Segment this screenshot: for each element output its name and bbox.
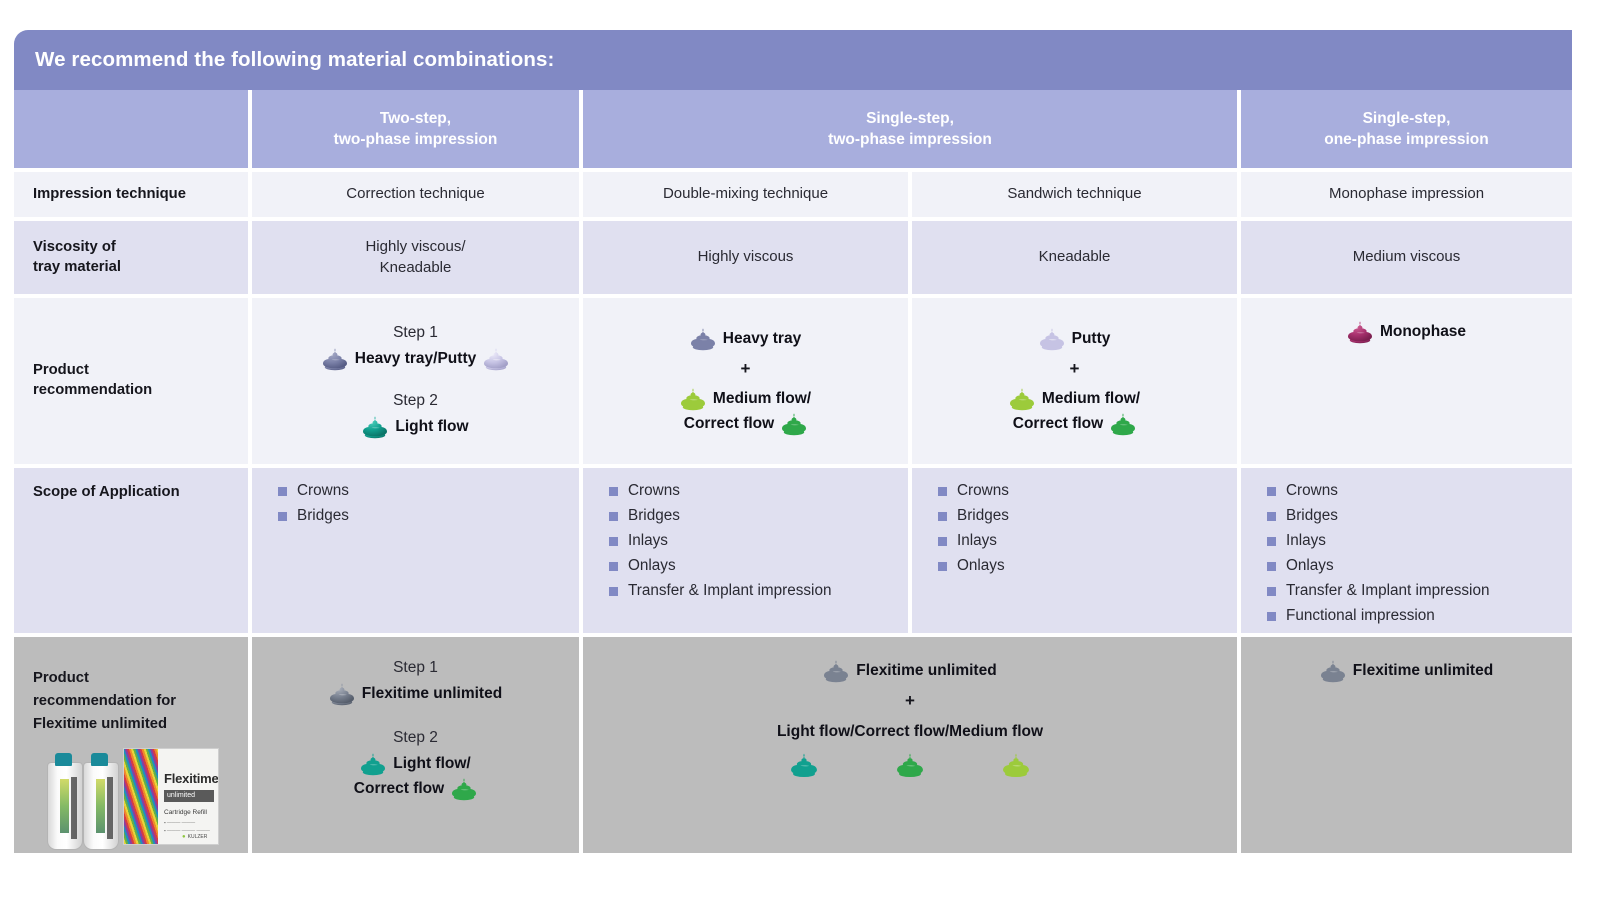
list-item: Onlays: [938, 554, 1009, 579]
step2-label: Step 2: [393, 392, 438, 410]
list-item: Crowns: [1267, 479, 1489, 504]
bullet-square-icon: [938, 562, 947, 571]
list-item-label: Onlays: [1286, 554, 1334, 579]
recommendation-table: We recommend the following material comb…: [14, 30, 1572, 858]
cartridge-label-strip: [60, 779, 69, 833]
blob-flexitime-unlimited-icon: [823, 659, 849, 683]
list-item: Crowns: [938, 479, 1009, 504]
cell-scope-4: Crowns Bridges Inlays Onlays Transfer & …: [1241, 468, 1572, 633]
blob-medium-flow-icon: [680, 387, 706, 411]
step1-text: Flexitime unlimited: [362, 685, 502, 703]
rowlabel-line1: Viscosity of: [33, 238, 121, 258]
bullet-square-icon: [1267, 587, 1276, 596]
col-header-line2: two-phase impression: [334, 129, 498, 150]
cell-text: Double-mixing technique: [663, 184, 828, 204]
box-subtitle: Cartridge Refill: [164, 809, 207, 816]
rowlabel-line1: Product: [33, 361, 152, 381]
scope-list-1: Crowns Bridges: [278, 479, 349, 529]
bullet-square-icon: [1267, 612, 1276, 621]
blob-correct-flow-icon: [1110, 412, 1136, 436]
table-title-bar: We recommend the following material comb…: [14, 30, 1572, 90]
list-item-label: Inlays: [628, 529, 668, 554]
product-box: Flexitime unlimited Cartridge Refill ▪ —…: [123, 748, 219, 845]
blob-putty-icon: [483, 347, 509, 371]
product-name: Putty: [1072, 330, 1111, 348]
list-item-label: Inlays: [957, 529, 997, 554]
bullet-square-icon: [609, 487, 618, 496]
step2-line2: Correct flow: [354, 780, 444, 798]
cell-line1: Highly viscous/: [365, 237, 465, 257]
list-item: Functional impression: [1267, 604, 1489, 629]
blob-light-flow-icon: [360, 752, 386, 776]
column-header-two-step: Two-step, two-phase impression: [252, 90, 579, 168]
comparison-grid: Two-step, two-phase impression Single-st…: [14, 90, 1572, 858]
bullet-square-icon: [609, 587, 618, 596]
cell-line1: Highly viscous: [698, 247, 794, 267]
cell-impression-technique-3: Sandwich technique: [912, 172, 1237, 217]
blob-correct-flow-icon: [781, 412, 807, 436]
page-title: We recommend the following material comb…: [14, 48, 554, 72]
product-name-line2: Correct flow: [1013, 415, 1103, 433]
cell-line1: Medium viscous: [1353, 247, 1461, 267]
list-item: Onlays: [609, 554, 831, 579]
bullet-square-icon: [1267, 487, 1276, 496]
list-item: Bridges: [609, 504, 831, 529]
step2-label: Step 2: [393, 729, 438, 747]
list-item-label: Transfer & Implant impression: [1286, 579, 1489, 604]
cell-scope-2: Crowns Bridges Inlays Onlays Transfer & …: [583, 468, 908, 633]
col-header-line2: two-phase impression: [828, 129, 992, 150]
blob-putty-icon: [1039, 327, 1065, 351]
blob-monophase-icon: [1347, 320, 1373, 344]
bullet-square-icon: [609, 537, 618, 546]
bullet-square-icon: [938, 537, 947, 546]
flexitime-flow-options: Light flow/Correct flow/Medium flow: [777, 723, 1043, 741]
list-item-label: Inlays: [1286, 529, 1326, 554]
cell-impression-technique-2: Double-mixing technique: [583, 172, 908, 217]
rowlabel-scope-of-application: Scope of Application: [14, 468, 248, 633]
cell-text: Monophase impression: [1329, 184, 1484, 204]
scope-list-4: Crowns Bridges Inlays Onlays Transfer & …: [1267, 479, 1489, 629]
bullet-square-icon: [1267, 537, 1276, 546]
box-variant-band: unlimited: [164, 790, 214, 802]
list-item: Bridges: [938, 504, 1009, 529]
cartridge-label-strip: [96, 779, 105, 833]
list-item-label: Onlays: [628, 554, 676, 579]
list-item-label: Crowns: [957, 479, 1009, 504]
product-name: Flexitime unlimited: [856, 662, 996, 680]
list-item: Transfer & Implant impression: [609, 579, 831, 604]
cartridge-1: [47, 762, 83, 850]
list-item: Onlays: [1267, 554, 1489, 579]
col-header-line1: Single-step,: [828, 108, 992, 129]
plus-sign: +: [1070, 359, 1080, 379]
bullet-square-icon: [1267, 512, 1276, 521]
rowlabel-text: Impression technique: [33, 185, 186, 205]
flow-blob-row: [790, 752, 1030, 778]
list-item: Inlays: [1267, 529, 1489, 554]
bullet-square-icon: [1267, 562, 1276, 571]
list-item-label: Bridges: [957, 504, 1009, 529]
header-corner-cell: [14, 90, 248, 168]
list-item-label: Bridges: [297, 504, 349, 529]
cell-line2: Kneadable: [365, 258, 465, 278]
blob-correct-flow-icon: [451, 777, 477, 801]
bullet-square-icon: [609, 512, 618, 521]
product-name: Monophase: [1380, 323, 1466, 341]
blob-heavy-tray-icon: [322, 347, 348, 371]
cell-viscosity-3: Kneadable: [912, 221, 1237, 294]
step2-line1: Light flow/: [393, 755, 470, 773]
plus-sign: +: [741, 359, 751, 379]
rowlabel-viscosity: Viscosity of tray material: [14, 221, 248, 294]
step2-text: Light flow: [395, 418, 468, 436]
blob-flexitime-unlimited-icon: [1320, 659, 1346, 683]
product-photo: Flexitime unlimited Cartridge Refill ▪ —…: [39, 748, 219, 853]
blob-medium-flow-icon: [1009, 387, 1035, 411]
col-header-line1: Two-step,: [334, 108, 498, 129]
col-header-line1: Single-step,: [1324, 108, 1489, 129]
list-item: Inlays: [609, 529, 831, 554]
scope-list-2: Crowns Bridges Inlays Onlays Transfer & …: [609, 479, 831, 604]
cell-text: Sandwich technique: [1007, 184, 1141, 204]
column-header-single-step-one-phase: Single-step, one-phase impression: [1241, 90, 1572, 168]
step1-text: Heavy tray/Putty: [355, 350, 476, 368]
list-item: Inlays: [938, 529, 1009, 554]
box-top-text: [213, 753, 214, 757]
bullet-square-icon: [938, 512, 947, 521]
rowlabel-text: Scope of Application: [33, 483, 180, 503]
cell-product-recommendation-3: Putty + Medium flow/ Correct flow: [912, 298, 1237, 464]
bullet-square-icon: [278, 487, 287, 496]
column-header-single-step-two-phase: Single-step, two-phase impression: [583, 90, 1237, 168]
product-name: Heavy tray: [723, 330, 801, 348]
bullet-square-icon: [278, 512, 287, 521]
box-variant: unlimited: [164, 790, 214, 802]
cell-product-recommendation-2: Heavy tray + Medium flow/ Correct flow: [583, 298, 908, 464]
cell-impression-technique-4: Monophase impression: [1241, 172, 1572, 217]
list-item: Bridges: [278, 504, 349, 529]
rowlabel-line2: tray material: [33, 258, 121, 278]
bullet-square-icon: [609, 562, 618, 571]
cell-viscosity-1: Highly viscous/ Kneadable: [252, 221, 579, 294]
cell-product-recommendation-1: Step 1 Heavy tray/Putty Step 2 Light flo: [252, 298, 579, 464]
cell-scope-3: Crowns Bridges Inlays Onlays: [912, 468, 1237, 633]
cell-viscosity-2: Highly viscous: [583, 221, 908, 294]
cell-text: Correction technique: [346, 184, 484, 204]
list-item-label: Bridges: [628, 504, 680, 529]
cartridge-2: [83, 762, 119, 850]
list-item: Bridges: [1267, 504, 1489, 529]
step1-label: Step 1: [393, 659, 438, 677]
rowlabel-line2: recommendation for: [33, 690, 248, 713]
col-header-line2: one-phase impression: [1324, 129, 1489, 150]
blob-heavy-tray-icon: [690, 327, 716, 351]
scope-list-3: Crowns Bridges Inlays Onlays: [938, 479, 1009, 579]
cell-flexitime-2: Flexitime unlimited + Light flow/Correct…: [583, 637, 1237, 853]
cell-line1: Kneadable: [1039, 247, 1111, 267]
bullet-square-icon: [938, 487, 947, 496]
cell-product-recommendation-4: Monophase: [1241, 298, 1572, 464]
rowlabel-line1: Product: [33, 667, 248, 690]
product-name: Flexitime unlimited: [1353, 662, 1493, 680]
blob-medium-flow-icon: [1002, 752, 1030, 778]
list-item-label: Transfer & Implant impression: [628, 579, 831, 604]
blob-light-flow-icon: [362, 415, 388, 439]
rowlabel-impression-technique: Impression technique: [14, 172, 248, 217]
flow-options-text: Light flow/Correct flow/Medium flow: [777, 723, 1043, 741]
list-item: Transfer & Implant impression: [1267, 579, 1489, 604]
rowlabel-product-recommendation: Product recommendation: [14, 298, 248, 464]
list-item: Crowns: [278, 479, 349, 504]
plus-sign: +: [905, 691, 915, 711]
list-item: Crowns: [609, 479, 831, 504]
cell-flexitime-1: Step 1 Flexitime unlimited Step 2 Light …: [252, 637, 579, 853]
product-name-line1: Medium flow/: [713, 390, 811, 408]
list-item-label: Crowns: [628, 479, 680, 504]
list-item-label: Functional impression: [1286, 604, 1435, 629]
product-name-line1: Medium flow/: [1042, 390, 1140, 408]
list-item-label: Onlays: [957, 554, 1005, 579]
list-item-label: Bridges: [1286, 504, 1338, 529]
blob-flexitime-unlimited-icon: [329, 682, 355, 706]
cartridge-dark-strip: [107, 777, 113, 839]
rowlabel-flexitime-recommendation: Product recommendation for Flexitime unl…: [14, 637, 248, 853]
rowlabel-line2: recommendation: [33, 381, 152, 401]
cell-scope-1: Crowns Bridges: [252, 468, 579, 633]
cell-impression-technique-1: Correction technique: [252, 172, 579, 217]
rowlabel-line3: Flexitime unlimited: [33, 713, 248, 736]
blob-correct-flow-icon: [896, 752, 924, 778]
list-item-label: Crowns: [297, 479, 349, 504]
box-brand: Flexitime: [164, 771, 219, 786]
cartridge-dark-strip: [71, 777, 77, 839]
list-item-label: Crowns: [1286, 479, 1338, 504]
box-manufacturer: KULZER: [182, 834, 207, 840]
cell-viscosity-4: Medium viscous: [1241, 221, 1572, 294]
blob-light-flow-icon: [790, 752, 818, 778]
fingerprint-graphic: [124, 749, 158, 844]
step1-label: Step 1: [393, 324, 438, 342]
product-name-line2: Correct flow: [684, 415, 774, 433]
cell-flexitime-4: Flexitime unlimited: [1241, 637, 1572, 853]
